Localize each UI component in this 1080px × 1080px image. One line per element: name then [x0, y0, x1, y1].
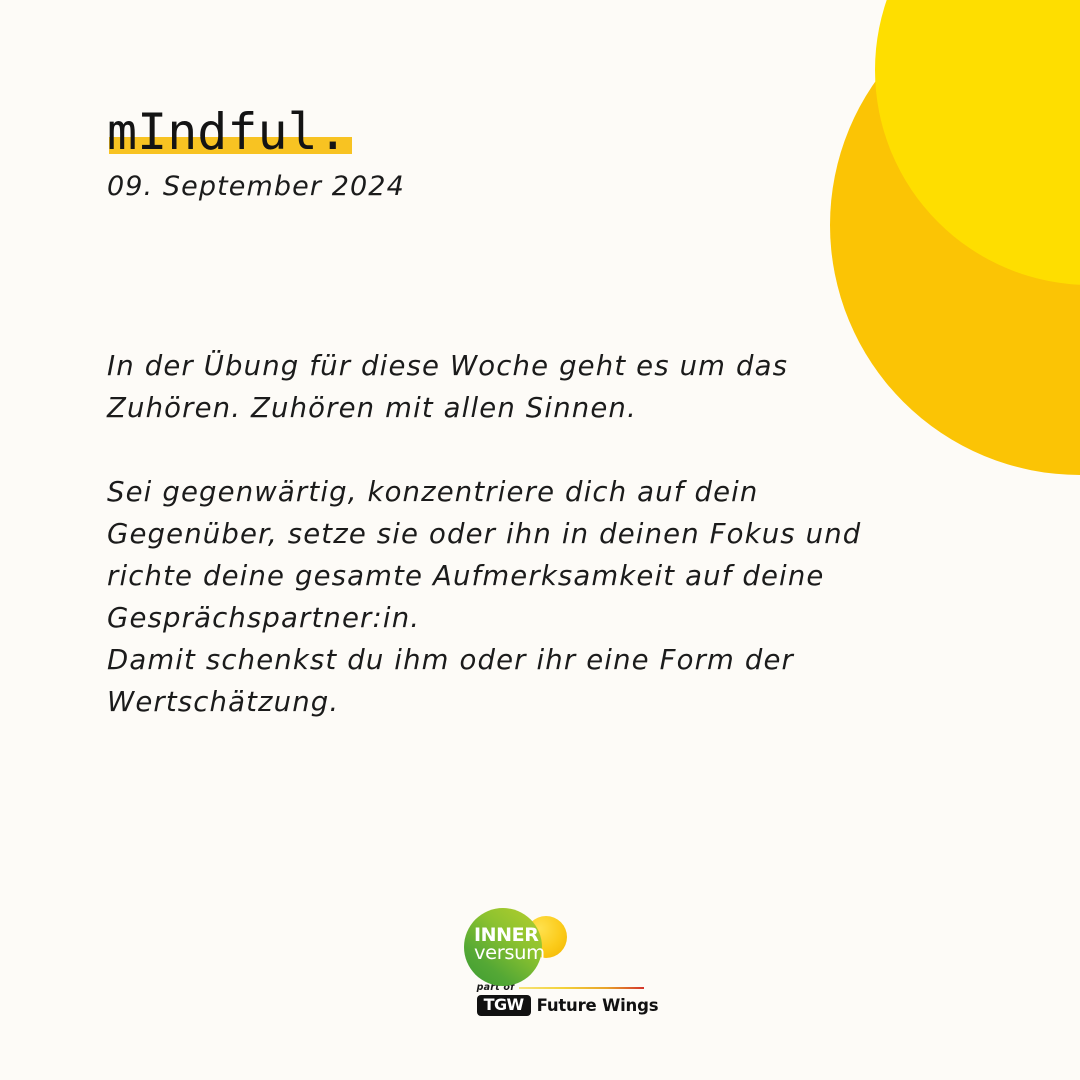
paragraph-2: Sei gegenwärtig, konzentriere dich auf d… [107, 471, 907, 723]
post-date: 09. September 2024 [107, 171, 405, 202]
poster-header: mIndful. 09. September 2024 [107, 104, 405, 202]
page-title: mIndful. [107, 104, 348, 160]
future-wings-label: Future Wings [537, 996, 659, 1015]
tgw-badge: TGW [477, 995, 531, 1016]
logo-versum-text: versum [474, 944, 546, 962]
body-copy: In der Übung für diese Woche geht es um … [107, 345, 907, 723]
tgw-row: TGW Future Wings [477, 995, 659, 1016]
paragraph-1: In der Übung für diese Woche geht es um … [107, 345, 907, 429]
title-wrapper: mIndful. [107, 104, 348, 160]
poster-canvas: mIndful. 09. September 2024 In der Übung… [0, 0, 1080, 1080]
logo-mark: INNER versum [450, 908, 630, 986]
logo-tagline: part of TGW Future Wings [477, 982, 659, 1016]
logo-wordmark: INNER versum [474, 927, 546, 962]
gradient-rule [519, 987, 644, 989]
innerversum-logo: INNER versum part of TGW Future Wings [0, 908, 1080, 1016]
